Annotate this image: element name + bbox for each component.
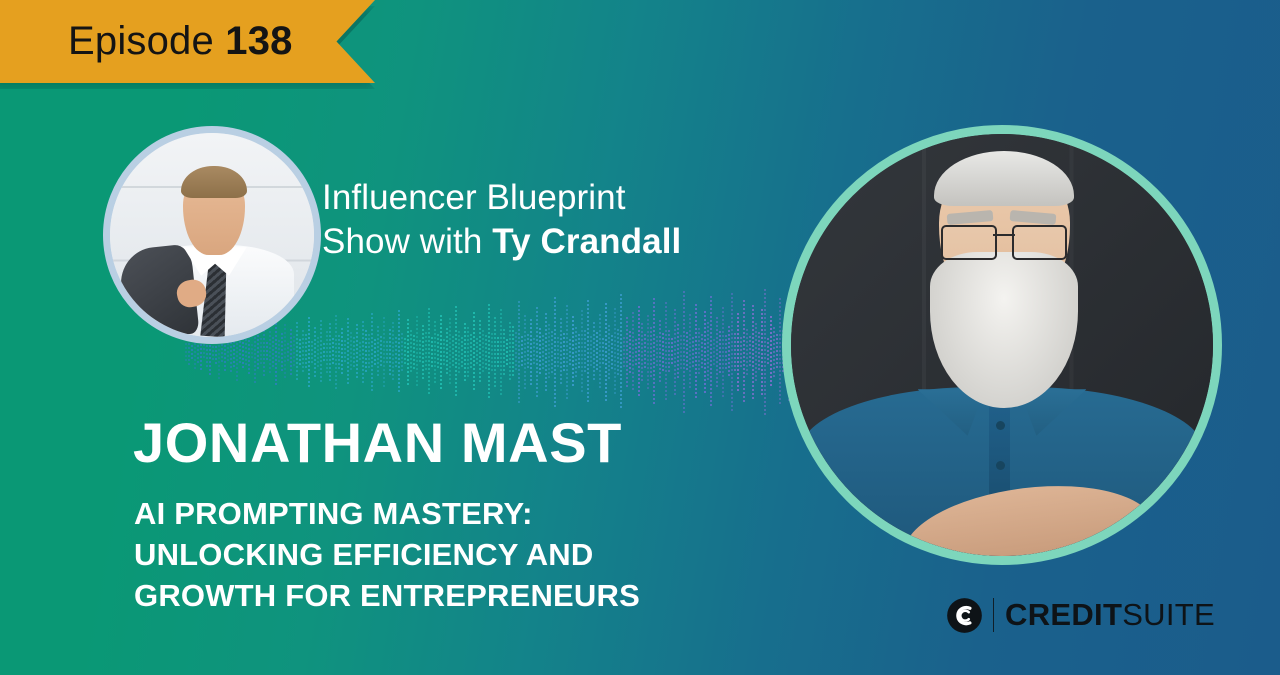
- episode-ribbon: Episode 138: [0, 0, 375, 83]
- waveform-bar: [491, 333, 493, 371]
- waveform-bar: [626, 317, 628, 387]
- waveform-bar: [383, 317, 385, 387]
- waveform-bar: [461, 337, 463, 367]
- waveform-bar: [506, 339, 508, 365]
- waveform-bar: [464, 323, 466, 381]
- waveform-bar: [371, 313, 373, 391]
- waveform-bar: [503, 329, 505, 375]
- waveform-bar: [386, 341, 388, 363]
- waveform-bar: [563, 333, 565, 371]
- waveform-bar: [680, 335, 682, 369]
- waveform-bar: [323, 343, 325, 361]
- waveform-bar: [749, 336, 751, 368]
- guest-shirt-button: [996, 421, 1005, 430]
- waveform-bar: [350, 332, 352, 372]
- waveform-bar: [719, 331, 721, 373]
- waveform-bar: [713, 339, 715, 365]
- glasses-icon: [941, 225, 1068, 257]
- waveform-bar: [440, 315, 442, 389]
- waveform-bar: [269, 331, 271, 373]
- waveform-bar: [494, 317, 496, 387]
- waveform-bar: [578, 334, 580, 370]
- waveform-bar: [662, 333, 664, 371]
- waveform-bar: [551, 331, 553, 373]
- waveform-bar: [605, 303, 607, 401]
- waveform-bar: [311, 341, 313, 363]
- waveform-bar: [560, 318, 562, 386]
- glasses-lens-right: [1012, 225, 1068, 261]
- waveform-bar: [227, 343, 229, 361]
- waveform-bar: [707, 322, 709, 382]
- logo-wordmark: CREDITSUITE: [1005, 597, 1215, 633]
- waveform-bar: [437, 334, 439, 370]
- waveform-bar: [515, 332, 517, 372]
- waveform-bar: [347, 318, 349, 386]
- waveform-bar: [359, 342, 361, 362]
- waveform-bar: [512, 326, 514, 378]
- waveform-bar: [407, 319, 409, 385]
- waveform-bar: [329, 323, 331, 381]
- waveform-bar: [317, 337, 319, 367]
- waveform-bar: [449, 318, 451, 386]
- waveform-bar: [575, 327, 577, 377]
- waveform-bar: [695, 304, 697, 400]
- host-avatar: [103, 126, 321, 344]
- waveform-bar: [557, 337, 559, 367]
- waveform-bar: [431, 337, 433, 367]
- waveform-bar: [335, 315, 337, 389]
- waveform-bar: [530, 319, 532, 385]
- host-name: Ty Crandall: [492, 222, 681, 261]
- waveform-bar: [389, 329, 391, 375]
- waveform-bar: [593, 322, 595, 382]
- waveform-bar: [446, 328, 448, 376]
- waveform-bar: [524, 315, 526, 389]
- waveform-bar: [455, 306, 457, 398]
- waveform-bar: [716, 317, 718, 387]
- show-title-line1: Influencer Blueprint: [322, 178, 626, 217]
- waveform-bar: [245, 339, 247, 365]
- waveform-bar: [266, 342, 268, 362]
- waveform-bar: [341, 328, 343, 376]
- podcast-episode-card: Episode 138 Influencer Blueprint Show wi…: [0, 0, 1280, 675]
- waveform-bar: [185, 343, 187, 361]
- waveform-bar: [620, 294, 622, 410]
- waveform-bar: [374, 339, 376, 365]
- logo-text-suite: SUITE: [1122, 597, 1215, 632]
- waveform-bar: [425, 332, 427, 372]
- waveform-bar: [476, 338, 478, 366]
- waveform-bar: [410, 330, 412, 374]
- waveform-bar: [314, 327, 316, 377]
- waveform-bar: [452, 336, 454, 368]
- waveform-bar: [554, 297, 556, 407]
- waveform-bar: [728, 326, 730, 378]
- waveform-bar: [521, 336, 523, 368]
- logo-divider: [993, 598, 995, 632]
- waveform-bar: [599, 314, 601, 390]
- waveform-bar: [278, 340, 280, 364]
- show-title-line2-prefix: Show with: [322, 222, 492, 261]
- guest-name: JONATHAN MAST: [133, 415, 622, 471]
- waveform-bar: [701, 334, 703, 370]
- episode-topic-line3: GROWTH FOR ENTREPRENEURS: [134, 576, 754, 617]
- waveform-bar: [656, 336, 658, 368]
- waveform-bar: [482, 330, 484, 374]
- waveform-bar: [596, 332, 598, 372]
- waveform-bar: [650, 327, 652, 377]
- waveform-bar: [479, 320, 481, 384]
- waveform-bar: [692, 337, 694, 367]
- host-hair: [181, 166, 246, 199]
- waveform-bar: [674, 309, 676, 395]
- waveform-bar: [365, 330, 367, 374]
- waveform-bar: [401, 333, 403, 371]
- waveform-bar: [434, 321, 436, 383]
- waveform-bar: [761, 309, 763, 395]
- glasses-lens-left: [941, 225, 997, 261]
- waveform-bar: [758, 332, 760, 372]
- credit-suite-logo: CREDITSUITE: [945, 592, 1215, 638]
- cs-monogram-icon: [945, 596, 984, 635]
- waveform-bar: [659, 320, 661, 384]
- waveform-bar: [257, 335, 259, 369]
- host-photo: [110, 133, 314, 337]
- waveform-bar: [677, 324, 679, 380]
- waveform-bar: [755, 323, 757, 381]
- waveform-bar: [518, 301, 520, 403]
- waveform-bar: [398, 310, 400, 394]
- waveform-bar: [395, 337, 397, 367]
- waveform-bar: [569, 339, 571, 365]
- waveform-bar: [332, 338, 334, 366]
- guest-hair: [934, 151, 1073, 206]
- waveform-bar: [287, 343, 289, 361]
- waveform-bar: [272, 337, 274, 367]
- waveform-bar: [377, 326, 379, 378]
- waveform-bar: [458, 331, 460, 373]
- waveform-bar: [629, 331, 631, 373]
- waveform-bar: [404, 338, 406, 366]
- waveform-bar: [548, 324, 550, 380]
- waveform-bar: [743, 300, 745, 404]
- waveform-bar: [188, 339, 190, 365]
- waveform-bar: [536, 307, 538, 397]
- waveform-bar: [320, 320, 322, 384]
- waveform-bar: [614, 308, 616, 396]
- waveform-bar: [644, 334, 646, 370]
- waveform-bar: [497, 337, 499, 367]
- waveform-bar: [641, 323, 643, 381]
- waveform-bar: [608, 325, 610, 379]
- guest-avatar: [782, 125, 1222, 565]
- waveform-bar: [428, 308, 430, 396]
- waveform-bar: [752, 305, 754, 399]
- waveform-bar: [623, 337, 625, 367]
- waveform-bar: [368, 334, 370, 370]
- waveform-bar: [779, 298, 781, 406]
- waveform-bar: [473, 312, 475, 392]
- waveform-bar: [647, 315, 649, 389]
- waveform-bar: [776, 334, 778, 370]
- waveform-bar: [305, 334, 307, 370]
- waveform-bar: [686, 332, 688, 372]
- waveform-bar: [725, 335, 727, 369]
- waveform-bar: [731, 293, 733, 411]
- waveform-bar: [239, 341, 241, 363]
- waveform-bar: [362, 321, 364, 383]
- waveform-bar: [443, 339, 445, 365]
- waveform-bar: [299, 339, 301, 365]
- waveform-bar: [710, 296, 712, 408]
- waveform-bar: [419, 340, 421, 364]
- waveform-bar: [668, 330, 670, 374]
- waveform-bar: [746, 329, 748, 375]
- waveform-bar: [509, 322, 511, 382]
- waveform-bar: [539, 328, 541, 376]
- waveform-bar: [380, 336, 382, 368]
- waveform-bar: [392, 322, 394, 382]
- episode-label-prefix: Episode: [68, 19, 214, 63]
- waveform-bar: [617, 329, 619, 375]
- waveform-bar: [587, 300, 589, 404]
- episode-label: Episode 138: [68, 19, 293, 64]
- waveform-bar: [638, 306, 640, 398]
- logo-text-credit: CREDIT: [1005, 597, 1122, 632]
- waveform-bar: [584, 330, 586, 374]
- waveform-bar: [665, 302, 667, 402]
- waveform-bar: [356, 324, 358, 380]
- waveform-bar: [467, 327, 469, 377]
- episode-topic-line2: UNLOCKING EFFICIENCY AND: [134, 535, 754, 576]
- show-title: Influencer Blueprint Show with Ty Cranda…: [322, 176, 792, 265]
- episode-number: 138: [225, 19, 292, 63]
- waveform-bar: [293, 336, 295, 368]
- waveform-bar: [611, 335, 613, 369]
- waveform-bar: [533, 338, 535, 366]
- waveform-bar: [770, 316, 772, 388]
- waveform-bar: [326, 331, 328, 373]
- waveform-bar: [602, 338, 604, 366]
- waveform-bar: [671, 338, 673, 366]
- waveform-bar: [572, 316, 574, 388]
- episode-topic-line1: AI PROMPTING MASTERY:: [134, 494, 754, 535]
- waveform-bar: [581, 310, 583, 394]
- guest-beard: [930, 252, 1078, 408]
- waveform-bar: [251, 344, 253, 360]
- waveform-bar: [737, 313, 739, 391]
- waveform-bar: [281, 333, 283, 371]
- waveform-bar: [635, 339, 637, 365]
- waveform-bar: [527, 334, 529, 370]
- waveform-bar: [416, 316, 418, 388]
- waveform-bar: [260, 338, 262, 366]
- waveform-bar: [353, 337, 355, 367]
- waveform-bar: [470, 334, 472, 370]
- guest-photo: [791, 134, 1213, 556]
- waveform-bar: [704, 311, 706, 393]
- waveform-bar: [590, 336, 592, 368]
- episode-topic: AI PROMPTING MASTERY: UNLOCKING EFFICIEN…: [134, 494, 754, 617]
- waveform-bar: [488, 304, 490, 400]
- waveform-bar: [566, 305, 568, 399]
- waveform-bar: [542, 335, 544, 369]
- waveform-bar: [653, 298, 655, 406]
- waveform-bar: [764, 289, 766, 415]
- waveform-bar: [698, 328, 700, 376]
- waveform-bar: [773, 327, 775, 377]
- waveform-bar: [722, 307, 724, 397]
- waveform-bar: [212, 342, 214, 362]
- waveform-bar: [689, 314, 691, 390]
- waveform-bar: [632, 312, 634, 392]
- waveform-bar: [683, 291, 685, 413]
- waveform-bar: [413, 335, 415, 369]
- waveform-bar: [203, 344, 205, 360]
- waveform-bar: [734, 333, 736, 371]
- waveform-bar: [338, 335, 340, 369]
- waveform-bar: [767, 338, 769, 366]
- waveform-bar: [197, 341, 199, 363]
- waveform-bar: [344, 340, 346, 364]
- waveform-bar: [191, 345, 193, 359]
- waveform-bar: [545, 313, 547, 391]
- waveform-bar: [485, 335, 487, 369]
- waveform-bar: [740, 337, 742, 367]
- waveform-bar: [500, 309, 502, 395]
- waveform-bar: [422, 325, 424, 379]
